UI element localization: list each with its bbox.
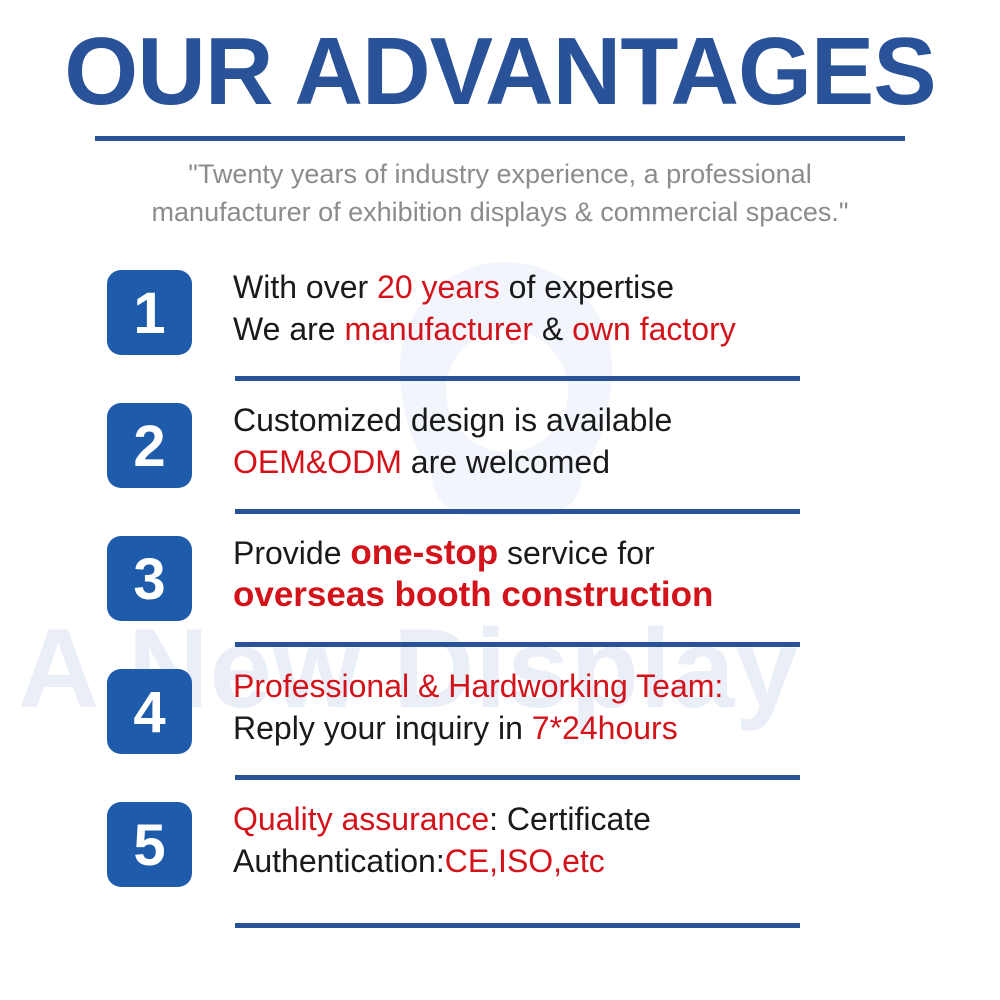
- advantage-5-line-1-segment-2: : Certificate: [489, 801, 651, 837]
- advantage-3-line-1-segment-2: one-stop: [350, 533, 498, 572]
- advantage-number-3: 3: [107, 536, 192, 621]
- advantage-3-line-1-segment-1: Provide: [233, 535, 350, 571]
- advantage-1-line-1-segment-1: With over: [233, 269, 377, 305]
- advantage-number-badge-4: 4: [107, 669, 192, 754]
- advantage-text-2: Customized design is availableOEM&ODM ar…: [233, 399, 993, 483]
- advantage-divider-3: [235, 642, 800, 647]
- advantage-4-line-2-segment-1: Reply your inquiry in: [233, 710, 532, 746]
- advantage-1-line-2-segment-2: manufacturer: [344, 311, 533, 347]
- advantage-2-line-2: OEM&ODM are welcomed: [233, 441, 993, 483]
- advantage-2-line-1: Customized design is available: [233, 399, 993, 441]
- page-subtitle: "Twenty years of industry experience, a …: [100, 155, 900, 231]
- advantage-text-5: Quality assurance: CertificateAuthentica…: [233, 798, 993, 882]
- advantage-1-line-1-segment-2: 20 years: [377, 269, 500, 305]
- advantage-4-line-2-segment-2: 7*24hours: [532, 710, 678, 746]
- advantage-number-badge-2: 2: [107, 403, 192, 488]
- advantage-text-1: With over 20 years of expertiseWe are ma…: [233, 266, 993, 350]
- advantage-2-line-2-segment-1: OEM&ODM: [233, 444, 402, 480]
- advantage-1-line-2-segment-3: &: [533, 311, 572, 347]
- advantage-1-line-2-segment-1: We are: [233, 311, 344, 347]
- advantage-number-4: 4: [107, 669, 192, 754]
- advantage-divider-1: [235, 376, 800, 381]
- advantage-5-line-2: Authentication:CE,ISO,etc: [233, 840, 993, 882]
- advantage-text-4: Professional & Hardworking Team:Reply yo…: [233, 665, 993, 749]
- advantage-1-line-2: We are manufacturer & own factory: [233, 308, 993, 350]
- advantage-3-line-2-segment-1: overseas booth construction: [233, 575, 713, 614]
- advantage-5-line-1-segment-1: Quality assurance: [233, 801, 489, 837]
- advantage-number-badge-3: 3: [107, 536, 192, 621]
- advantage-5-line-2-segment-1: Authentication:: [233, 843, 445, 879]
- advantage-4-line-1-segment-1: Professional & Hardworking Team:: [233, 668, 723, 704]
- advantage-3-line-2: overseas booth construction: [233, 574, 993, 616]
- subtitle-line-1: "Twenty years of industry experience, a …: [100, 155, 900, 193]
- advantage-2-line-2-segment-2: are welcomed: [402, 444, 610, 480]
- advantage-4-line-2: Reply your inquiry in 7*24hours: [233, 707, 993, 749]
- advantage-number-1: 1: [107, 270, 192, 355]
- subtitle-line-2: manufacturer of exhibition displays & co…: [100, 193, 900, 231]
- advantage-divider-4: [235, 775, 800, 780]
- advantage-divider-5: [235, 923, 800, 928]
- title-divider: [95, 136, 905, 141]
- advantage-1-line-1: With over 20 years of expertise: [233, 266, 993, 308]
- advantage-number-badge-5: 5: [107, 802, 192, 887]
- advantages-infographic: A New Display OUR ADVANTAGES "Twenty yea…: [0, 0, 1000, 1000]
- advantage-1-line-2-segment-4: own factory: [572, 311, 736, 347]
- advantage-divider-2: [235, 509, 800, 514]
- advantage-3-line-1: Provide one-stop service for: [233, 532, 993, 574]
- advantage-1-line-1-segment-3: of expertise: [500, 269, 674, 305]
- advantage-number-badge-1: 1: [107, 270, 192, 355]
- advantage-4-line-1: Professional & Hardworking Team:: [233, 665, 993, 707]
- page-title: OUR ADVANTAGES: [5, 22, 995, 122]
- advantage-number-2: 2: [107, 403, 192, 488]
- advantage-number-5: 5: [107, 802, 192, 887]
- advantage-2-line-1-segment-1: Customized design is available: [233, 402, 672, 438]
- advantage-3-line-1-segment-3: service for: [498, 535, 654, 571]
- advantage-5-line-1: Quality assurance: Certificate: [233, 798, 993, 840]
- advantage-5-line-2-segment-2: CE,ISO,etc: [445, 843, 605, 879]
- advantage-text-3: Provide one-stop service foroverseas boo…: [233, 532, 993, 616]
